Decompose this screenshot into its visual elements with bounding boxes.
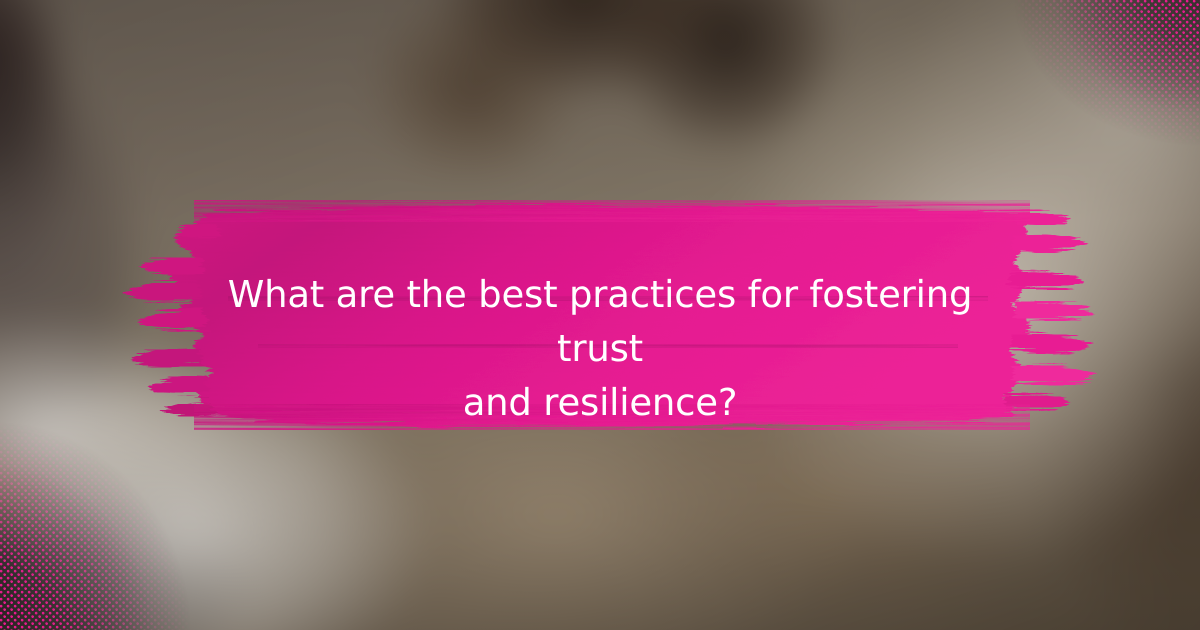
social-share-card: What are the best practices for fosterin… — [0, 0, 1200, 630]
halftone-dots-bottom-left-icon — [0, 419, 196, 630]
halftone-dots-top-right-icon — [1014, 0, 1200, 148]
headline-text: What are the best practices for fosterin… — [180, 268, 1020, 430]
